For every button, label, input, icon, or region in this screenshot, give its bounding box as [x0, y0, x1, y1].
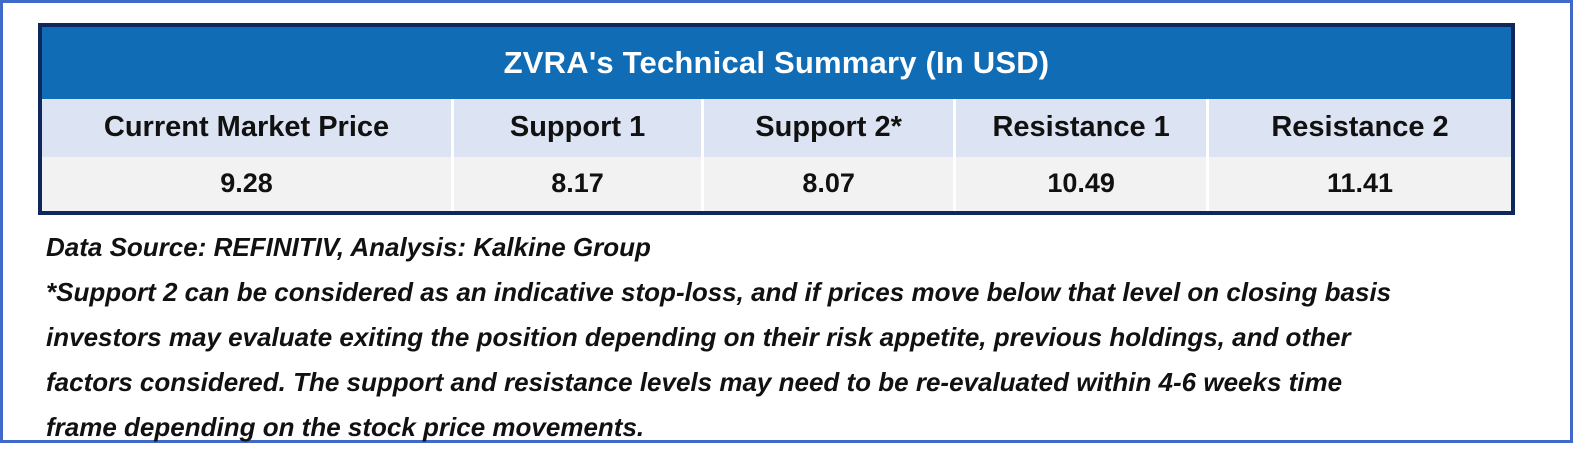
column-header-current-market-price: Current Market Price [42, 99, 454, 157]
value-resistance-2: 11.41 [1209, 157, 1511, 211]
technical-summary-table: ZVRA's Technical Summary (In USD) Curren… [38, 23, 1515, 215]
value-support-2: 8.07 [704, 157, 956, 211]
notes-block: Data Source: REFINITIV, Analysis: Kalkin… [46, 225, 1511, 450]
value-resistance-1: 10.49 [956, 157, 1209, 211]
data-source-note: Data Source: REFINITIV, Analysis: Kalkin… [46, 225, 1511, 270]
content-area: ZVRA's Technical Summary (In USD) Curren… [38, 23, 1515, 423]
disclaimer-line-1: *Support 2 can be considered as an indic… [46, 270, 1511, 315]
table-header-row: Current Market Price Support 1 Support 2… [42, 99, 1511, 157]
column-header-resistance-2: Resistance 2 [1209, 99, 1511, 157]
value-current-market-price: 9.28 [42, 157, 454, 211]
disclaimer-line-2: investors may evaluate exiting the posit… [46, 315, 1511, 360]
page-frame: ZVRA's Technical Summary (In USD) Curren… [0, 0, 1573, 443]
disclaimer-line-3: factors considered. The support and resi… [46, 360, 1511, 405]
column-header-support-1: Support 1 [454, 99, 704, 157]
table-title: ZVRA's Technical Summary (In USD) [42, 27, 1511, 99]
column-header-resistance-1: Resistance 1 [956, 99, 1209, 157]
table-value-row: 9.28 8.17 8.07 10.49 11.41 [42, 157, 1511, 211]
disclaimer-line-4: frame depending on the stock price movem… [46, 405, 1511, 450]
value-support-1: 8.17 [454, 157, 704, 211]
column-header-support-2: Support 2* [704, 99, 956, 157]
